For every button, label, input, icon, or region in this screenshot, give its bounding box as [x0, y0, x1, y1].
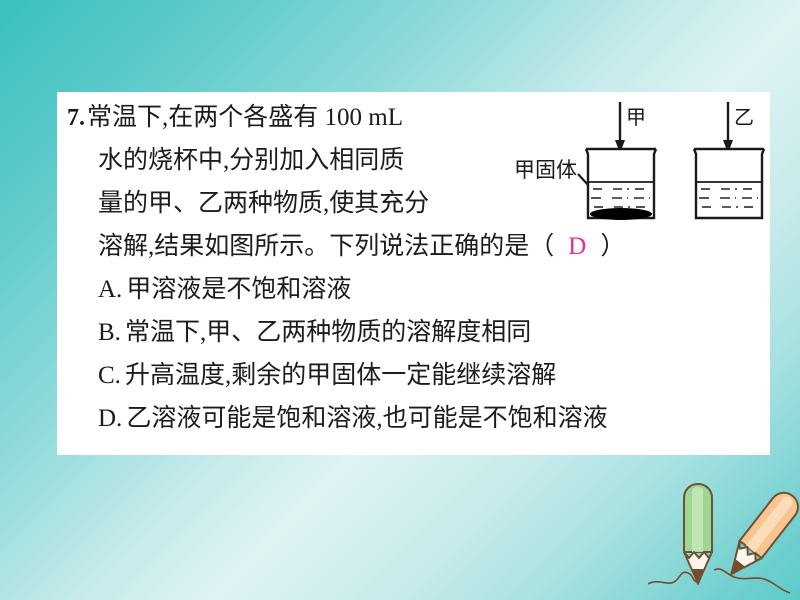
beaker-left: [586, 149, 656, 220]
bracket-open: （: [529, 233, 554, 260]
content-card: 7.常温下,在两个各盛有 100 mL 水的烧杯中,分别加入相同质 量的甲、乙两…: [57, 92, 770, 455]
arrow-left-beaker: [615, 102, 625, 153]
option-b-label: B.: [98, 319, 125, 346]
diagram-solid-label: 甲固体: [514, 158, 577, 182]
undissolved-solid: [590, 208, 652, 220]
pencil-green-tip: [692, 570, 704, 584]
question-number: 7.: [67, 105, 87, 131]
question-line-1-text: 常温下,在两个各盛有: [87, 104, 318, 131]
slide-canvas: 7.常温下,在两个各盛有 100 mL 水的烧杯中,分别加入相同质 量的甲、乙两…: [0, 0, 800, 600]
answer-value: D: [554, 233, 600, 260]
bracket-close: ）: [600, 233, 625, 260]
squiggle-left: [648, 572, 698, 584]
pencil-orange: [720, 487, 800, 583]
beaker-diagram: 甲固体 甲: [512, 92, 770, 232]
option-c-text: 升高温度,剩余的甲固体一定能继续溶解: [125, 362, 556, 389]
option-c-label: C.: [98, 362, 125, 389]
squiggle-right: [714, 569, 790, 593]
option-d[interactable]: D.乙溶液可能是饱和溶液,也可能是不饱和溶液: [67, 397, 767, 440]
arrow-right-label: 乙: [734, 107, 754, 129]
pencil-green: [684, 484, 712, 584]
arrow-left-label: 甲: [626, 107, 646, 129]
option-a-text: 甲溶液是不饱和溶液: [126, 276, 351, 303]
arrow-right-beaker: [723, 102, 733, 153]
option-d-label: D.: [98, 405, 126, 432]
option-d-text: 乙溶液可能是饱和溶液,也可能是不饱和溶液: [126, 405, 607, 432]
option-b[interactable]: B.常温下,甲、乙两种物质的溶解度相同: [67, 311, 767, 354]
question-line-4-text: 溶解,结果如图所示。下列说法正确的是: [98, 233, 529, 260]
option-c[interactable]: C.升高温度,剩余的甲固体一定能继续溶解: [67, 354, 767, 397]
beaker-right: [694, 149, 764, 218]
option-a[interactable]: A.甲溶液是不饱和溶液: [67, 268, 767, 311]
option-a-label: A.: [98, 276, 126, 303]
pencils-decoration: [648, 478, 800, 600]
option-b-text: 常温下,甲、乙两种物质的溶解度相同: [125, 319, 531, 346]
question-volume-value: 100 mL: [325, 104, 403, 131]
